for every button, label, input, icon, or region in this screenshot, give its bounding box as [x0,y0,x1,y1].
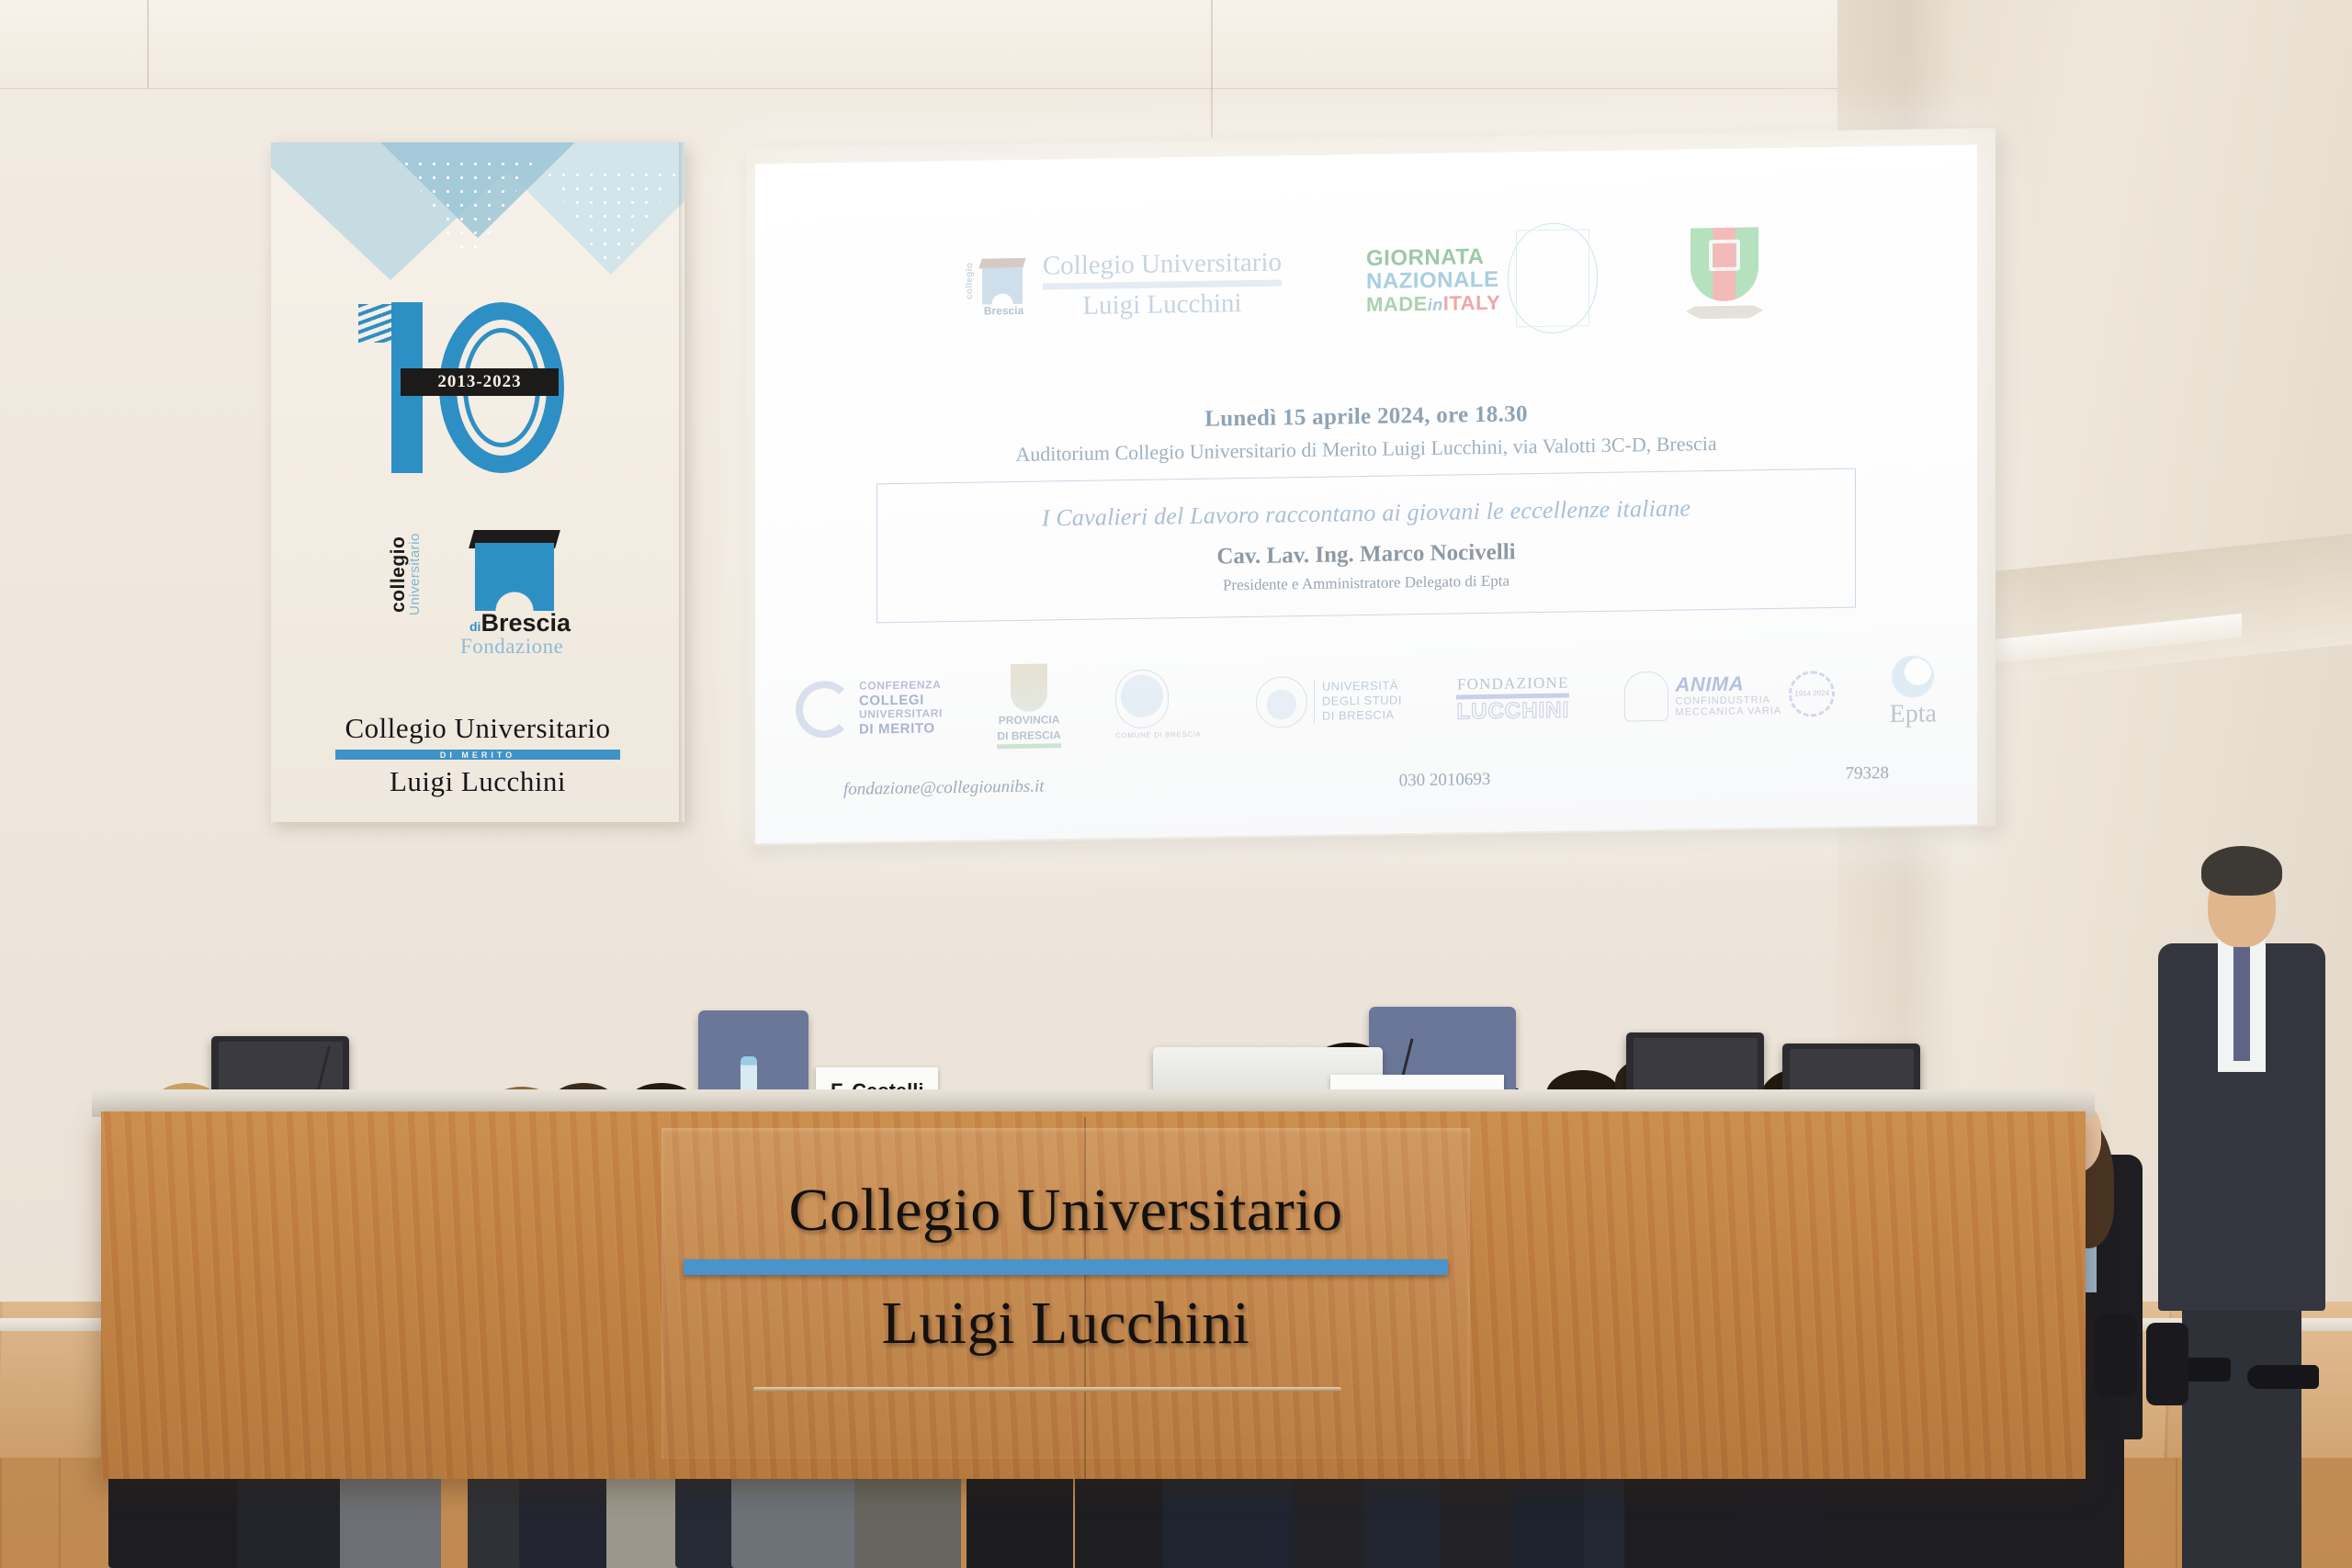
provincia-l1: PROVINCIA [997,715,1060,728]
epta-label: Epta [1890,699,1937,729]
giornata-in: in [1428,295,1443,313]
slide-collegio-rule [1043,279,1282,289]
desk-sign-rule [684,1259,1448,1275]
slide-collegio-line1: Collegio Universitario [1043,249,1282,281]
slide-speaker-name: Cav. Lav. Ing. Marco Nocivelli [1216,539,1515,570]
slide-footer: fondazione@collegiounibs.it 030 2010693 … [843,763,1889,800]
logo-comune-di-brescia: COMUNE DI BRESCIA [1115,669,1201,739]
anima-years: 1914 2024 [1794,690,1829,698]
provincia-l2: DI BRESCIA [997,729,1060,742]
logo-unibs-slide: UNIVERSITÀ DEGLI STUDI DI BRESCIA [1256,674,1402,728]
rollup-banner: 2013-2023 collegio Universitario diBresc… [271,142,684,822]
giornata-line1: GIORNATA [1366,245,1500,271]
banner-foundation-logo: collegio Universitario diBrescia Fondazi… [271,528,684,620]
desk-sign-line2: Luigi Lucchini [661,1289,1470,1359]
wall-seam-b [147,0,149,88]
shoe-right [2247,1365,2319,1389]
conferenza-l4: DI MERITO [859,720,943,738]
giornata-made: MADE [1366,292,1428,316]
banner-title-line1: Collegio Universitario [271,712,684,745]
slide-sponsor-logos: CONFERENZA COLLEGI UNIVERSITARI DI MERIT… [796,641,1937,761]
comune-seal-icon [1115,669,1169,728]
slide-footer-phone-2: 79328 [1845,763,1889,784]
epta-mark-icon [1892,655,1934,698]
provincia-crest-icon [1011,664,1047,713]
fl-slide-l1: FONDAZIONE [1456,674,1569,692]
fl-slide-l2: LUCCHINI [1456,699,1569,723]
banner-title-line2: Luigi Lucchini [271,765,684,798]
slide-footer-phone: 030 2010693 [1399,770,1491,792]
desk-cabinet-handle[interactable] [753,1387,1341,1392]
logo-conferenza-collegi: CONFERENZA COLLEGI UNIVERSITARI DI MERIT… [796,679,943,739]
person-24 [2150,842,2334,1568]
photo-scene: 2013-2023 collegio Universitario diBresc… [0,0,2352,1568]
slide-arch-icon [982,267,1023,305]
provincia-bar [997,743,1060,749]
banner-di-merito-label: DI MERITO [440,750,515,760]
vitruvian-man-icon [1508,222,1598,334]
slide-logo-collegio: collegio Brescia Collegio Universitario … [966,249,1282,321]
boot-left [2095,1314,2137,1396]
anima-l3: MECCANICA VARIA [1676,705,1782,718]
wall-seam-a [1211,0,1213,138]
slide-title-box: I Cavalieri del Lavoro raccontano ai gio… [876,468,1856,624]
conferenza-l3: UNIVERSITARI [859,707,943,721]
anniversary-years-label: 2013-2023 [437,372,521,392]
banner-title-rule: DI MERITO [335,750,620,760]
banner-title-block: Collegio Universitario DI MERITO Luigi L… [271,712,684,798]
italian-republic-emblem-icon [1682,227,1767,323]
foundation-brescia-label: diBrescia [469,609,571,637]
comune-label: COMUNE DI BRESCIA [1115,730,1201,739]
unibs-slide-l2: DEGLI STUDI [1322,693,1402,709]
slide-footer-email: fondazione@collegiounibs.it [843,777,1045,800]
anniversary-years-band: 2013-2023 [401,368,559,396]
slide-date-block: Lunedì 15 aprile 2024, ore 18.30 Auditor… [755,395,1977,471]
slide-event-title: I Cavalieri del Lavoro raccontano ai gio… [1042,494,1690,532]
conferenza-ring-icon [796,681,853,739]
arch-icon [475,543,554,611]
anima-eagle-icon [1624,671,1668,722]
slide-collegio-line2: Luigi Lucchini [1043,288,1282,321]
unibs-seal-icon-slide [1256,676,1307,728]
logo-fondazione-lucchini-slide: FONDAZIONE LUCCHINI [1456,674,1569,723]
desk-venue-sign: Collegio Universitario Luigi Lucchini [661,1176,1470,1359]
giornata-line2: NAZIONALE [1366,268,1500,294]
logo-epta: Epta [1890,655,1937,729]
slide-brescia-label: Brescia [984,304,1023,318]
foundation-collegio-label: collegio [389,532,408,616]
slide-collegio-label: collegio [965,263,975,299]
conferenza-l1: CONFERENZA [859,679,943,693]
slide-header-logos: collegio Brescia Collegio Universitario … [755,217,1977,346]
unibs-slide-l3: DI BRESCIA [1322,708,1402,725]
foundation-vertical-text: collegio Universitario [389,532,473,616]
slide-logo-giornata-nazionale: GIORNATA NAZIONALE MADEinITALY [1366,222,1598,336]
desk-sign-line1: Collegio Universitario [661,1176,1470,1246]
foundation-brescia-text: Brescia [481,609,571,637]
giornata-italy: ITALY [1443,290,1500,314]
logo-anima-confindustria: ANIMA CONFINDUSTRIA MECCANICA VARIA 1914… [1624,669,1836,722]
slide-speaker-role: Presidente e Amministratore Delegato di … [1223,571,1510,594]
anima-l1: ANIMA [1676,672,1782,696]
boot-right [2146,1323,2188,1405]
foundation-fondazione-label: Fondazione [460,635,563,659]
foundation-universitario-label: Universitario [408,532,422,616]
projected-slide: collegio Brescia Collegio Universitario … [755,145,1977,844]
unibs-slide-l1: UNIVERSITÀ [1322,678,1402,694]
anniversary-logo: 2013-2023 [271,297,684,480]
logo-provincia-di-brescia: PROVINCIA DI BRESCIA [997,664,1060,749]
anima-anniversary-gear-icon: 1914 2024 [1789,671,1835,717]
emblem-ribbon [1686,305,1763,319]
emblem-shield [1690,227,1758,301]
foundation-di-label: di [469,619,481,634]
slide-collegio-vertical: collegio [966,263,976,299]
